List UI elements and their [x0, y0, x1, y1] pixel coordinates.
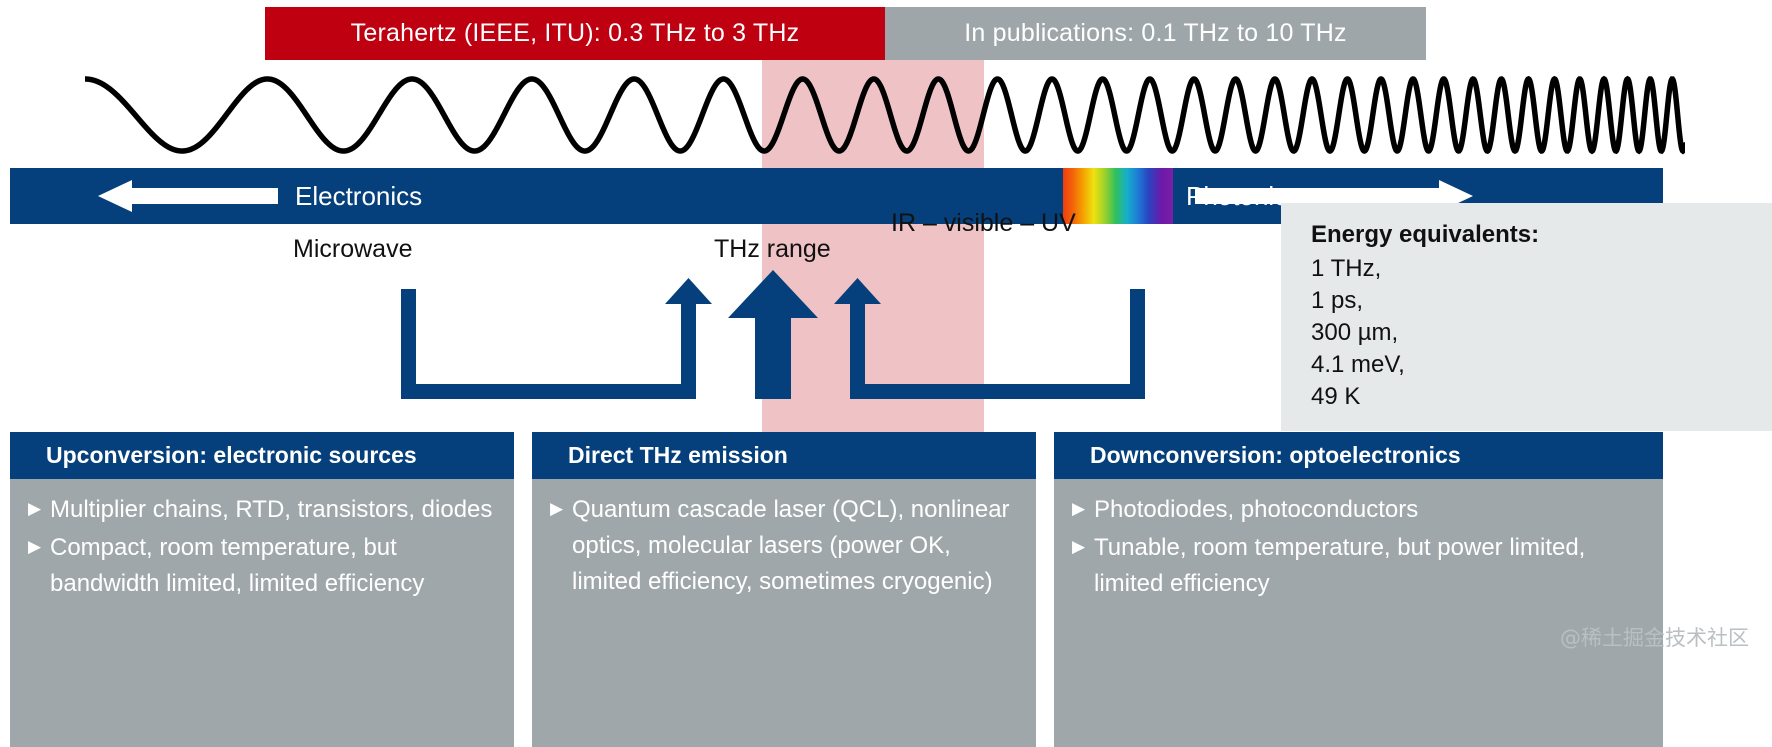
list-item-label: Photodiodes, photoconductors	[1094, 492, 1649, 528]
energy-equivalent-value: 1 THz,	[1311, 253, 1772, 285]
upconversion-arrow-icon	[665, 278, 712, 399]
energy-equivalent-value: 1 ps,	[1311, 285, 1772, 317]
panel-downconversion-title: Downconversion: optoelectronics	[1090, 442, 1461, 469]
panel-direct-emission-body: ▶ Quantum cascade laser (QCL), nonlinear…	[532, 479, 1036, 747]
arrow-left-icon	[98, 180, 278, 212]
list-item: ▶ Tunable, room temperature, but power l…	[1072, 530, 1649, 602]
list-item: ▶ Multiplier chains, RTD, transistors, d…	[28, 492, 500, 528]
panel-downconversion-body: ▶ Photodiodes, photoconductors ▶ Tunable…	[1054, 479, 1663, 747]
bullet-triangle-icon: ▶	[1072, 492, 1094, 525]
list-item: ▶ Photodiodes, photoconductors	[1072, 492, 1649, 528]
energy-equivalents-box: Energy equivalents: 1 THz, 1 ps, 300 µm,…	[1281, 203, 1772, 431]
list-item-label: Tunable, room temperature, but power lim…	[1094, 530, 1649, 602]
banner-terahertz-standard: Terahertz (IEEE, ITU): 0.3 THz to 3 THz	[265, 7, 885, 60]
panel-upconversion-title: Upconversion: electronic sources	[46, 442, 417, 469]
bullet-triangle-icon: ▶	[1072, 530, 1094, 563]
banner-publications-range-label: In publications: 0.1 THz to 10 THz	[964, 19, 1346, 48]
panel-direct-emission: Direct THz emission ▶ Quantum cascade la…	[532, 432, 1036, 747]
banner-publications-range: In publications: 0.1 THz to 10 THz	[885, 7, 1426, 60]
right-bracket-base	[850, 384, 1145, 399]
list-item-label: Compact, room temperature, but bandwidth…	[50, 530, 500, 602]
watermark: @稀土掘金技术社区	[1560, 622, 1749, 652]
list-item: ▶ Compact, room temperature, but bandwid…	[28, 530, 500, 602]
chirped-waveform	[85, 62, 1685, 168]
electronics-label: Electronics	[295, 181, 422, 212]
panel-upconversion-body: ▶ Multiplier chains, RTD, transistors, d…	[10, 479, 514, 747]
right-bracket-stem	[1130, 289, 1145, 399]
panel-direct-emission-header: Direct THz emission	[532, 432, 1036, 479]
ir-visible-uv-label: IR – visible – UV	[891, 209, 1076, 238]
energy-equivalents-title: Energy equivalents:	[1311, 221, 1772, 249]
left-bracket-base	[401, 384, 696, 399]
downconversion-arrow-icon	[834, 278, 881, 399]
list-item: ▶ Quantum cascade laser (QCL), nonlinear…	[550, 492, 1022, 600]
energy-equivalent-value: 49 K	[1311, 381, 1772, 413]
list-item-label: Multiplier chains, RTD, transistors, dio…	[50, 492, 500, 528]
energy-equivalent-value: 4.1 meV,	[1311, 349, 1772, 381]
panel-downconversion-header: Downconversion: optoelectronics	[1054, 432, 1663, 479]
panel-direct-emission-title: Direct THz emission	[568, 442, 788, 469]
energy-equivalent-value: 300 µm,	[1311, 317, 1772, 349]
direct-emission-arrow-icon	[728, 270, 818, 399]
bullet-triangle-icon: ▶	[28, 530, 50, 563]
left-bracket-stem	[401, 289, 416, 399]
list-item-label: Quantum cascade laser (QCL), nonlinear o…	[572, 492, 1022, 600]
bullet-triangle-icon: ▶	[550, 492, 572, 525]
visible-spectrum-gradient-icon	[1063, 168, 1173, 224]
banner-terahertz-standard-label: Terahertz (IEEE, ITU): 0.3 THz to 3 THz	[351, 19, 800, 48]
bullet-triangle-icon: ▶	[28, 492, 50, 525]
panel-upconversion: Upconversion: electronic sources ▶ Multi…	[10, 432, 514, 747]
panel-upconversion-header: Upconversion: electronic sources	[10, 432, 514, 479]
panel-downconversion: Downconversion: optoelectronics ▶ Photod…	[1054, 432, 1663, 747]
